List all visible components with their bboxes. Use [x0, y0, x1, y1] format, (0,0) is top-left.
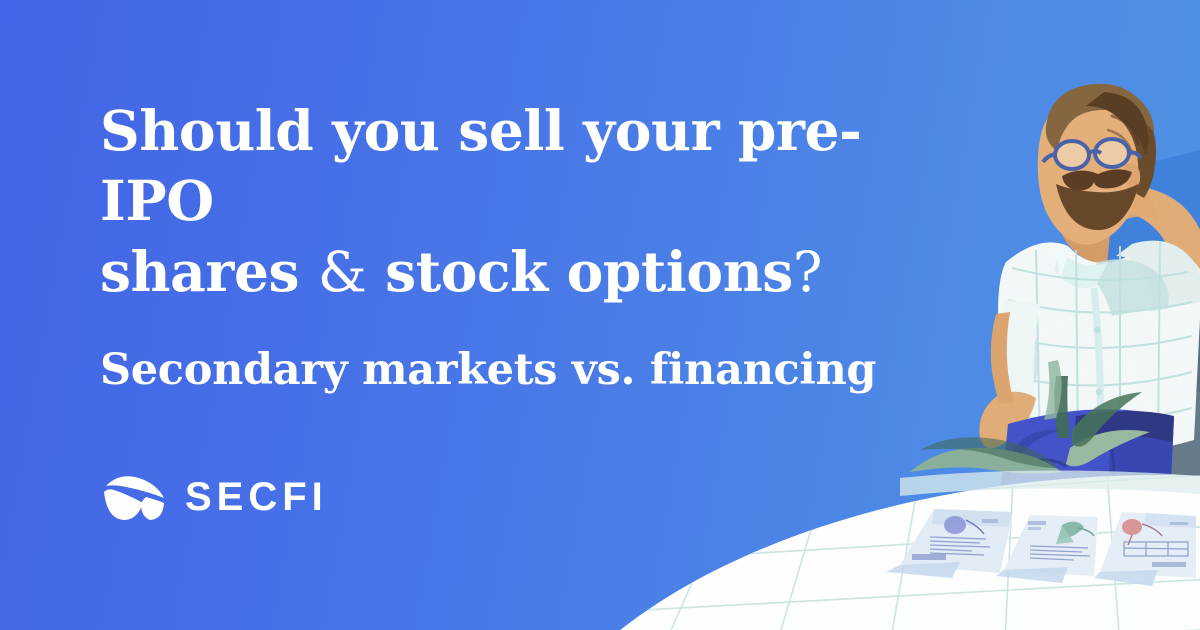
glasses-icon: [1043, 139, 1141, 169]
person-illustration: [979, 84, 1200, 526]
backdrop-shapes: [1092, 150, 1200, 520]
paper-pie-chart: [944, 516, 966, 534]
paper-table-graphic: [1124, 542, 1188, 556]
secfi-logo[interactable]: SECFI: [103, 473, 328, 521]
table: [460, 460, 1200, 630]
page-subtitle: Secondary markets vs. financing: [100, 343, 930, 399]
headline-ampersand: &: [318, 240, 367, 304]
headline-line-1: Should you sell your pre-IPO: [100, 98, 862, 233]
copy-block: Should you sell your pre-IPO shares & st…: [100, 96, 930, 399]
paper-center: [996, 515, 1098, 583]
headline-question-mark: ?: [793, 240, 822, 304]
paper-left: [886, 509, 1013, 578]
secfi-wing-icon: [103, 473, 165, 521]
social-card: Should you sell your pre-IPO shares & st…: [0, 0, 1200, 630]
plant-illustration: [910, 360, 1150, 474]
paper-cone-chart: [1058, 521, 1084, 539]
secfi-wordmark: SECFI: [185, 475, 328, 520]
paper-right: [1094, 512, 1196, 586]
headline-line-2a: shares: [100, 239, 318, 304]
paper-balloon-chart: [1122, 519, 1142, 535]
page-title: Should you sell your pre-IPO shares & st…: [100, 96, 930, 307]
headline-line-2b: stock options: [366, 239, 792, 304]
